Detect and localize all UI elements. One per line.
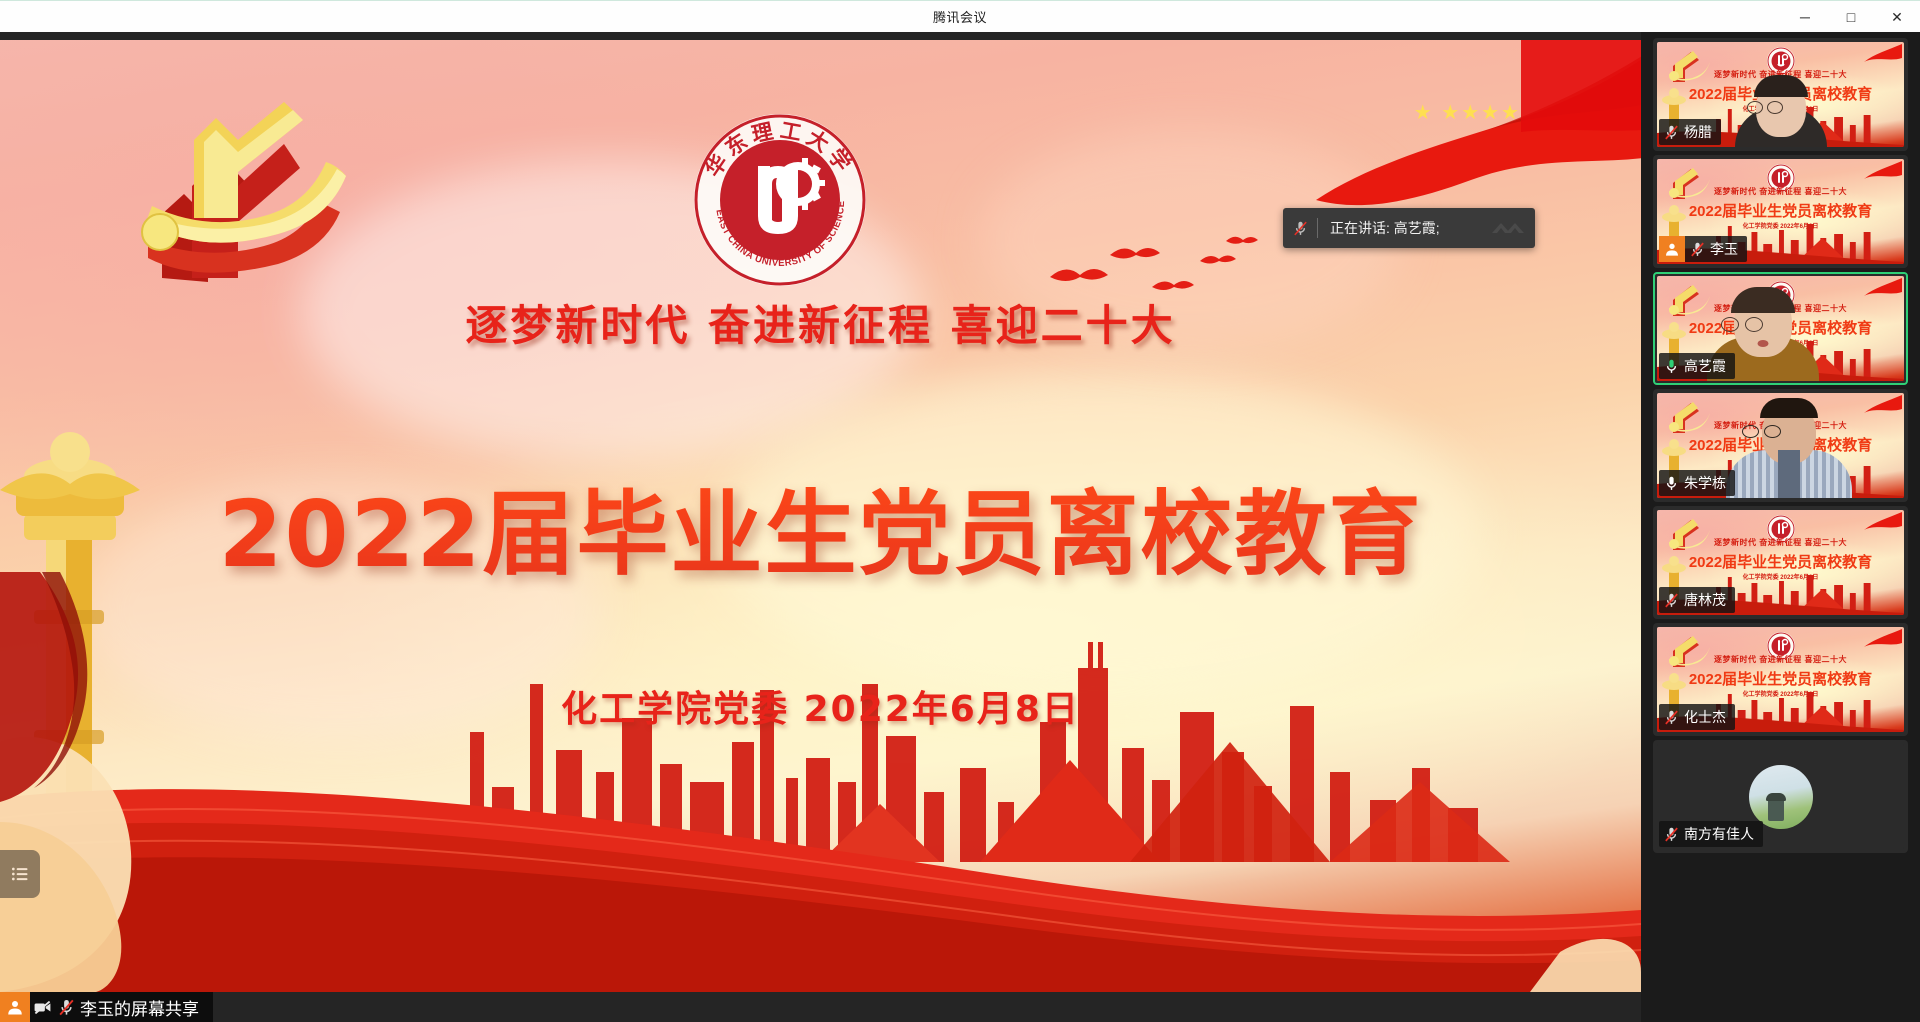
mic-on-white-icon-wrap: [1659, 470, 1683, 496]
participant-name-plate: 杨腊: [1659, 119, 1721, 145]
list-panel-icon-button[interactable]: [0, 850, 40, 898]
minimize-button[interactable]: ─: [1782, 1, 1828, 33]
mic-muted-icon: [1663, 124, 1680, 141]
participant-name-plate: 李玉: [1659, 236, 1747, 262]
mic-muted-icon-wrap: [1685, 236, 1709, 262]
mic-muted-icon: [1292, 220, 1309, 237]
meeting-window-body: ★ ★★★★: [0, 32, 1920, 1022]
screen-share-label: 李玉的屏幕共享: [0, 992, 213, 1022]
red-ribbon-decoration: [1860, 512, 1902, 534]
red-ribbon-decoration: [1860, 395, 1902, 417]
red-ribbon-decoration: [1860, 161, 1902, 183]
mic-muted-icon-wrap: [1659, 119, 1683, 145]
participant-tile[interactable]: 南方有佳人: [1653, 740, 1908, 853]
mic-muted-icon: [1663, 709, 1680, 726]
avatar-photo: [1749, 765, 1813, 829]
university-seal-logo: 华东理工大学 EAST CHINA UNIVERSITY OF SCIENCE …: [690, 110, 870, 290]
chevron-collapse-icon-button[interactable]: [1481, 208, 1535, 248]
person-icon: [6, 998, 24, 1016]
participant-tile[interactable]: 逐梦新时代 奋进新征程 喜迎二十大 2022届毕业生党员离校教育 化工学院党委 …: [1653, 389, 1908, 502]
mic-on-white-icon: [1663, 475, 1680, 492]
window-title-bar: 腾讯会议 ─ □ ✕: [0, 0, 1920, 32]
window-controls: ─ □ ✕: [1782, 1, 1920, 33]
participant-tile[interactable]: 逐梦新时代 奋进新征程 喜迎二十大 2022届毕业生党员离校教育 化工学院党委 …: [1653, 506, 1908, 619]
mini-slide-kicker: 逐梦新时代 奋进新征程 喜迎二十大: [1657, 186, 1904, 197]
party-emblem-icon: [88, 82, 368, 302]
participant-tile-active-speaker[interactable]: 逐梦新时代 奋进新征程 喜迎二十大 2022届毕业生党员离校教育 化工学院党委 …: [1653, 272, 1908, 385]
chevron-collapse-icon: [1488, 219, 1528, 237]
close-button[interactable]: ✕: [1874, 1, 1920, 33]
participant-tile[interactable]: 逐梦新时代 奋进新征程 喜迎二十大 2022届毕业生党员离校教育 化工学院党委 …: [1653, 38, 1908, 151]
red-ribbon-decoration: [1860, 44, 1902, 66]
mini-slide-kicker: 逐梦新时代 奋进新征程 喜迎二十大: [1657, 654, 1904, 665]
shared-content-surface: ★ ★★★★: [0, 40, 1641, 992]
participant-name-plate: 高艺霞: [1659, 353, 1735, 379]
active-speaker-toast[interactable]: 正在讲话: 高艺霞;: [1283, 208, 1535, 248]
skyline-hills-decoration: [0, 572, 1641, 992]
window-title: 腾讯会议: [0, 7, 1920, 26]
mic-on-icon-wrap: [1659, 353, 1683, 379]
red-ribbon-decoration: [1860, 278, 1902, 300]
participant-name: 朱学栋: [1683, 473, 1735, 493]
participant-name: 唐林茂: [1683, 590, 1735, 610]
mic-muted-icon: [1663, 826, 1680, 843]
active-speaker-text: 正在讲话: 高艺霞;: [1318, 218, 1481, 238]
participant-name-plate: 朱学栋: [1659, 470, 1735, 496]
participant-name: 南方有佳人: [1683, 824, 1763, 844]
flag-stars-decoration: ★ ★★★★: [1414, 100, 1521, 125]
camera-off-icon: [33, 998, 52, 1017]
participant-name-plate: 唐林茂: [1659, 587, 1735, 613]
avatar-hat: [1766, 793, 1786, 801]
participant-name: 高艺霞: [1683, 356, 1735, 376]
avatar: [1659, 236, 1685, 262]
mic-muted-icon-wrap: [54, 992, 78, 1022]
mic-muted-icon-wrap: [1659, 821, 1683, 847]
mic-muted-icon-wrap: [1283, 208, 1317, 248]
red-ribbon-decoration: [1860, 629, 1902, 651]
mic-muted-icon: [57, 998, 76, 1017]
mic-muted-icon-wrap: [1659, 704, 1683, 730]
slide-main-title: 2022届毕业生党员离校教育: [0, 460, 1641, 593]
participant-name: 李玉: [1709, 239, 1747, 259]
avatar: [0, 992, 30, 1022]
mic-muted-icon: [1663, 592, 1680, 609]
mic-on-icon: [1663, 358, 1680, 375]
participant-name: 化士杰: [1683, 707, 1735, 727]
shared-screen-stage[interactable]: ★ ★★★★: [0, 32, 1641, 1022]
participant-name: 杨腊: [1683, 122, 1721, 142]
mic-muted-icon-wrap: [1659, 587, 1683, 613]
participant-video-person: [1731, 75, 1831, 147]
participant-video-person: [1724, 398, 1854, 498]
participant-name-plate: 南方有佳人: [1659, 821, 1763, 847]
screen-share-owner-name: 李玉的屏幕共享: [78, 995, 213, 1020]
slide-subtitle: 化工学院党委 2022年6月8日: [0, 680, 1641, 732]
mini-slide-kicker: 逐梦新时代 奋进新征程 喜迎二十大: [1657, 537, 1904, 548]
participant-name-plate: 化士杰: [1659, 704, 1735, 730]
presentation-slide: ★ ★★★★: [0, 40, 1641, 992]
person-icon: [1664, 241, 1680, 257]
maximize-button[interactable]: □: [1828, 1, 1874, 33]
camera-off-icon-wrap: [30, 992, 54, 1022]
mic-muted-icon: [1689, 241, 1706, 258]
participant-tile[interactable]: 逐梦新时代 奋进新征程 喜迎二十大 2022届毕业生党员离校教育 化工学院党委 …: [1653, 155, 1908, 268]
slide-kicker-text: 逐梦新时代 奋进新征程 喜迎二十大: [0, 292, 1641, 353]
participant-filmstrip[interactable]: 逐梦新时代 奋进新征程 喜迎二十大 2022届毕业生党员离校教育 化工学院党委 …: [1641, 32, 1920, 1022]
list-panel-icon: [10, 864, 30, 884]
participant-tile[interactable]: 逐梦新时代 奋进新征程 喜迎二十大 2022届毕业生党员离校教育 化工学院党委 …: [1653, 623, 1908, 736]
